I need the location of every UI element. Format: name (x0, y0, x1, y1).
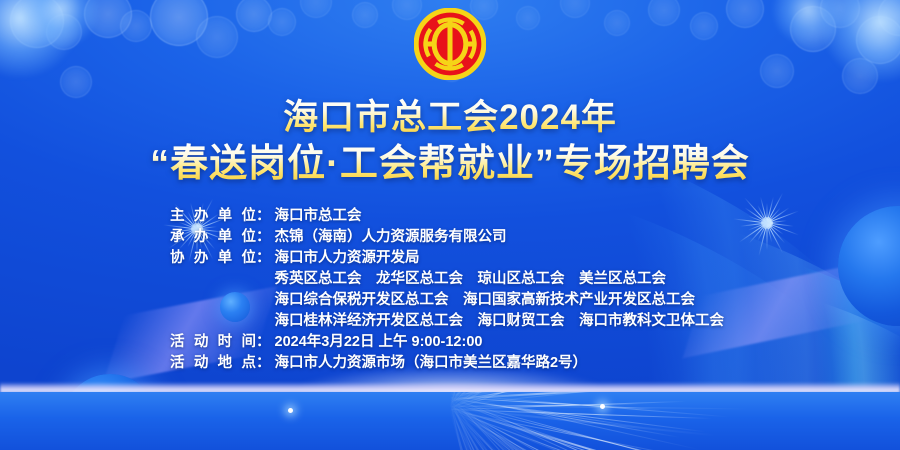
info-row: 协办单位：海口桂林洋经济开发区总工会 海口财贸工会 海口市教科文卫体工会 (170, 311, 730, 332)
info-row-colon: ： (256, 332, 275, 353)
info-row-colon: ： (256, 248, 275, 269)
bokeh-circle (690, 12, 718, 40)
bokeh-circle (726, 0, 764, 28)
info-row-label: 主办单位 (170, 206, 256, 227)
info-row-colon: ： (256, 353, 275, 374)
info-row: 协办单位：海口市人力资源开发局 (170, 248, 730, 269)
page-title-sub: “春送岗位·工会帮就业”专场招聘会 (0, 142, 900, 186)
bokeh-circle (300, 0, 332, 18)
info-row-value: 杰锦（海南）人力资源服务有限公司 (275, 227, 731, 248)
info-row-label: 协办单位 (170, 248, 256, 269)
sparkle-point (288, 408, 293, 413)
info-row-label: 活动时间 (170, 332, 256, 353)
bokeh-circle (60, 66, 92, 98)
bokeh-circle (352, 2, 378, 28)
bokeh-circle (760, 54, 794, 88)
info-row-value: 2024年3月22日 上午 9:00-12:00 (275, 332, 731, 353)
info-row: 活动时间：2024年3月22日 上午 9:00-12:00 (170, 332, 730, 353)
bokeh-circle (516, 6, 540, 30)
info-row-value: 秀英区总工会 龙华区总工会 琼山区总工会 美兰区总工会 (275, 269, 731, 290)
info-row: 承办单位：杰锦（海南）人力资源服务有限公司 (170, 227, 730, 248)
bokeh-circle (120, 10, 152, 42)
info-row-value: 海口市人力资源市场（海口市美兰区嘉华路2号） (275, 353, 731, 374)
sparkle-point (600, 404, 605, 409)
info-row: 活动地点：海口市人力资源市场（海口市美兰区嘉华路2号） (170, 353, 730, 374)
recruitment-poster: 海口市总工会2024年 “春送岗位·工会帮就业”专场招聘会 主办单位：海口市总工… (0, 0, 900, 450)
info-row-value: 海口市总工会 (275, 206, 731, 227)
bokeh-circle (604, 10, 630, 36)
info-row-label: 承办单位 (170, 227, 256, 248)
bokeh-circle (150, 0, 208, 46)
info-row-value: 海口桂林洋经济开发区总工会 海口财贸工会 海口市教科文卫体工会 (275, 311, 731, 332)
info-row: 主办单位：海口市总工会 (170, 206, 730, 227)
info-row-label: 活动地点 (170, 353, 256, 374)
acftu-union-emblem (414, 8, 486, 80)
info-row-colon: ： (256, 206, 275, 227)
bokeh-circle (268, 8, 296, 36)
bokeh-circle (648, 0, 680, 26)
info-row-value: 海口市人力资源开发局 (275, 248, 731, 269)
info-row-colon: ： (256, 227, 275, 248)
bokeh-circle (560, 0, 590, 18)
bokeh-circle (236, 0, 272, 32)
info-row-value: 海口综合保税开发区总工会 海口国家高新技术产业开发区总工会 (275, 290, 731, 311)
info-row: 协办单位：秀英区总工会 龙华区总工会 琼山区总工会 美兰区总工会 (170, 269, 730, 290)
perspective-light-floor (0, 392, 900, 450)
bokeh-circle (196, 16, 238, 58)
page-title-main: 海口市总工会2024年 (0, 98, 900, 139)
event-info-block: 主办单位：海口市总工会承办单位：杰锦（海南）人力资源服务有限公司协办单位：海口市… (0, 206, 900, 374)
info-row: 协办单位：海口综合保税开发区总工会 海口国家高新技术产业开发区总工会 (170, 290, 730, 311)
poster-title-block: 海口市总工会2024年 “春送岗位·工会帮就业”专场招聘会 (0, 98, 900, 186)
